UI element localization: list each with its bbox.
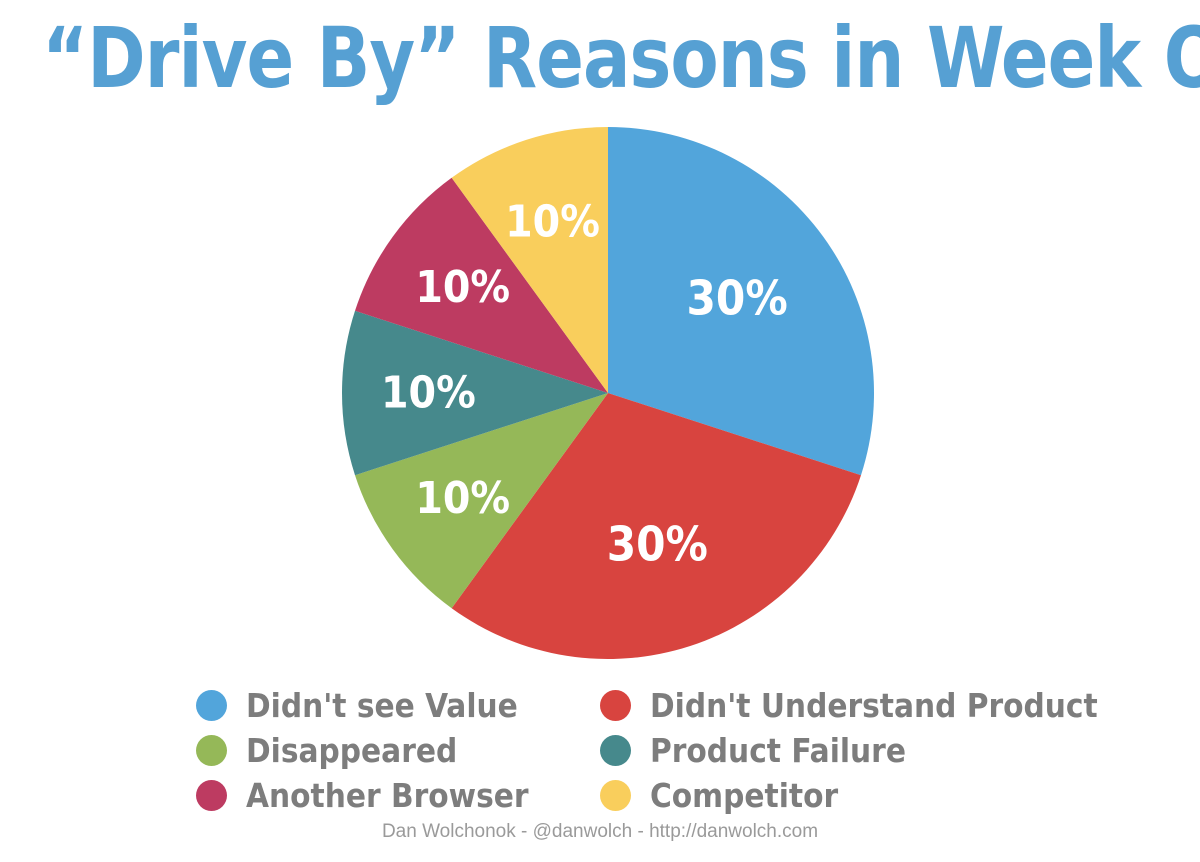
legend-item[interactable]: Disappeared <box>196 729 596 772</box>
legend-item[interactable]: Didn't see Value <box>196 684 596 727</box>
legend-dot-icon <box>600 735 631 766</box>
pie-slice-label: 10% <box>415 262 510 313</box>
legend-dot-icon <box>196 735 227 766</box>
pie-slice-label: 10% <box>415 473 510 524</box>
legend-item-label: Disappeared <box>246 734 457 768</box>
legend-item[interactable]: Competitor <box>600 774 1070 817</box>
legend-item-label: Didn't see Value <box>246 689 518 723</box>
legend-dot-icon <box>600 690 631 721</box>
legend-column-left: Didn't see Value Disappeared Another Bro… <box>196 684 596 819</box>
legend: Didn't see Value Disappeared Another Bro… <box>196 684 1076 808</box>
pie-slice-label: 10% <box>381 368 476 419</box>
legend-item-label: Didn't Understand Product <box>650 689 1098 723</box>
legend-item[interactable]: Another Browser <box>196 774 596 817</box>
legend-dot-icon <box>196 690 227 721</box>
legend-dot-icon <box>196 780 227 811</box>
pie-slice-label: 30% <box>607 517 708 572</box>
legend-item-label: Product Failure <box>650 734 906 768</box>
legend-item-label: Another Browser <box>246 779 529 813</box>
footer-credit: Dan Wolchonok - @danwolch - http://danwo… <box>0 820 1200 844</box>
legend-item[interactable]: Product Failure <box>600 729 1070 772</box>
pie-slice-label: 30% <box>686 272 787 327</box>
pie-slice-label: 10% <box>505 197 600 248</box>
legend-column-right: Didn't Understand Product Product Failur… <box>600 684 1070 819</box>
page-title: “Drive By” Reasons in Week One <box>42 6 1158 110</box>
legend-item-label: Competitor <box>650 779 838 813</box>
pie-chart: 30%30%10%10%10%10% <box>342 127 874 659</box>
pie-chart-svg: 30%30%10%10%10%10% <box>342 127 874 659</box>
legend-item[interactable]: Didn't Understand Product <box>600 684 1070 727</box>
legend-dot-icon <box>600 780 631 811</box>
slide-canvas: “Drive By” Reasons in Week One 30%30%10%… <box>0 0 1200 862</box>
